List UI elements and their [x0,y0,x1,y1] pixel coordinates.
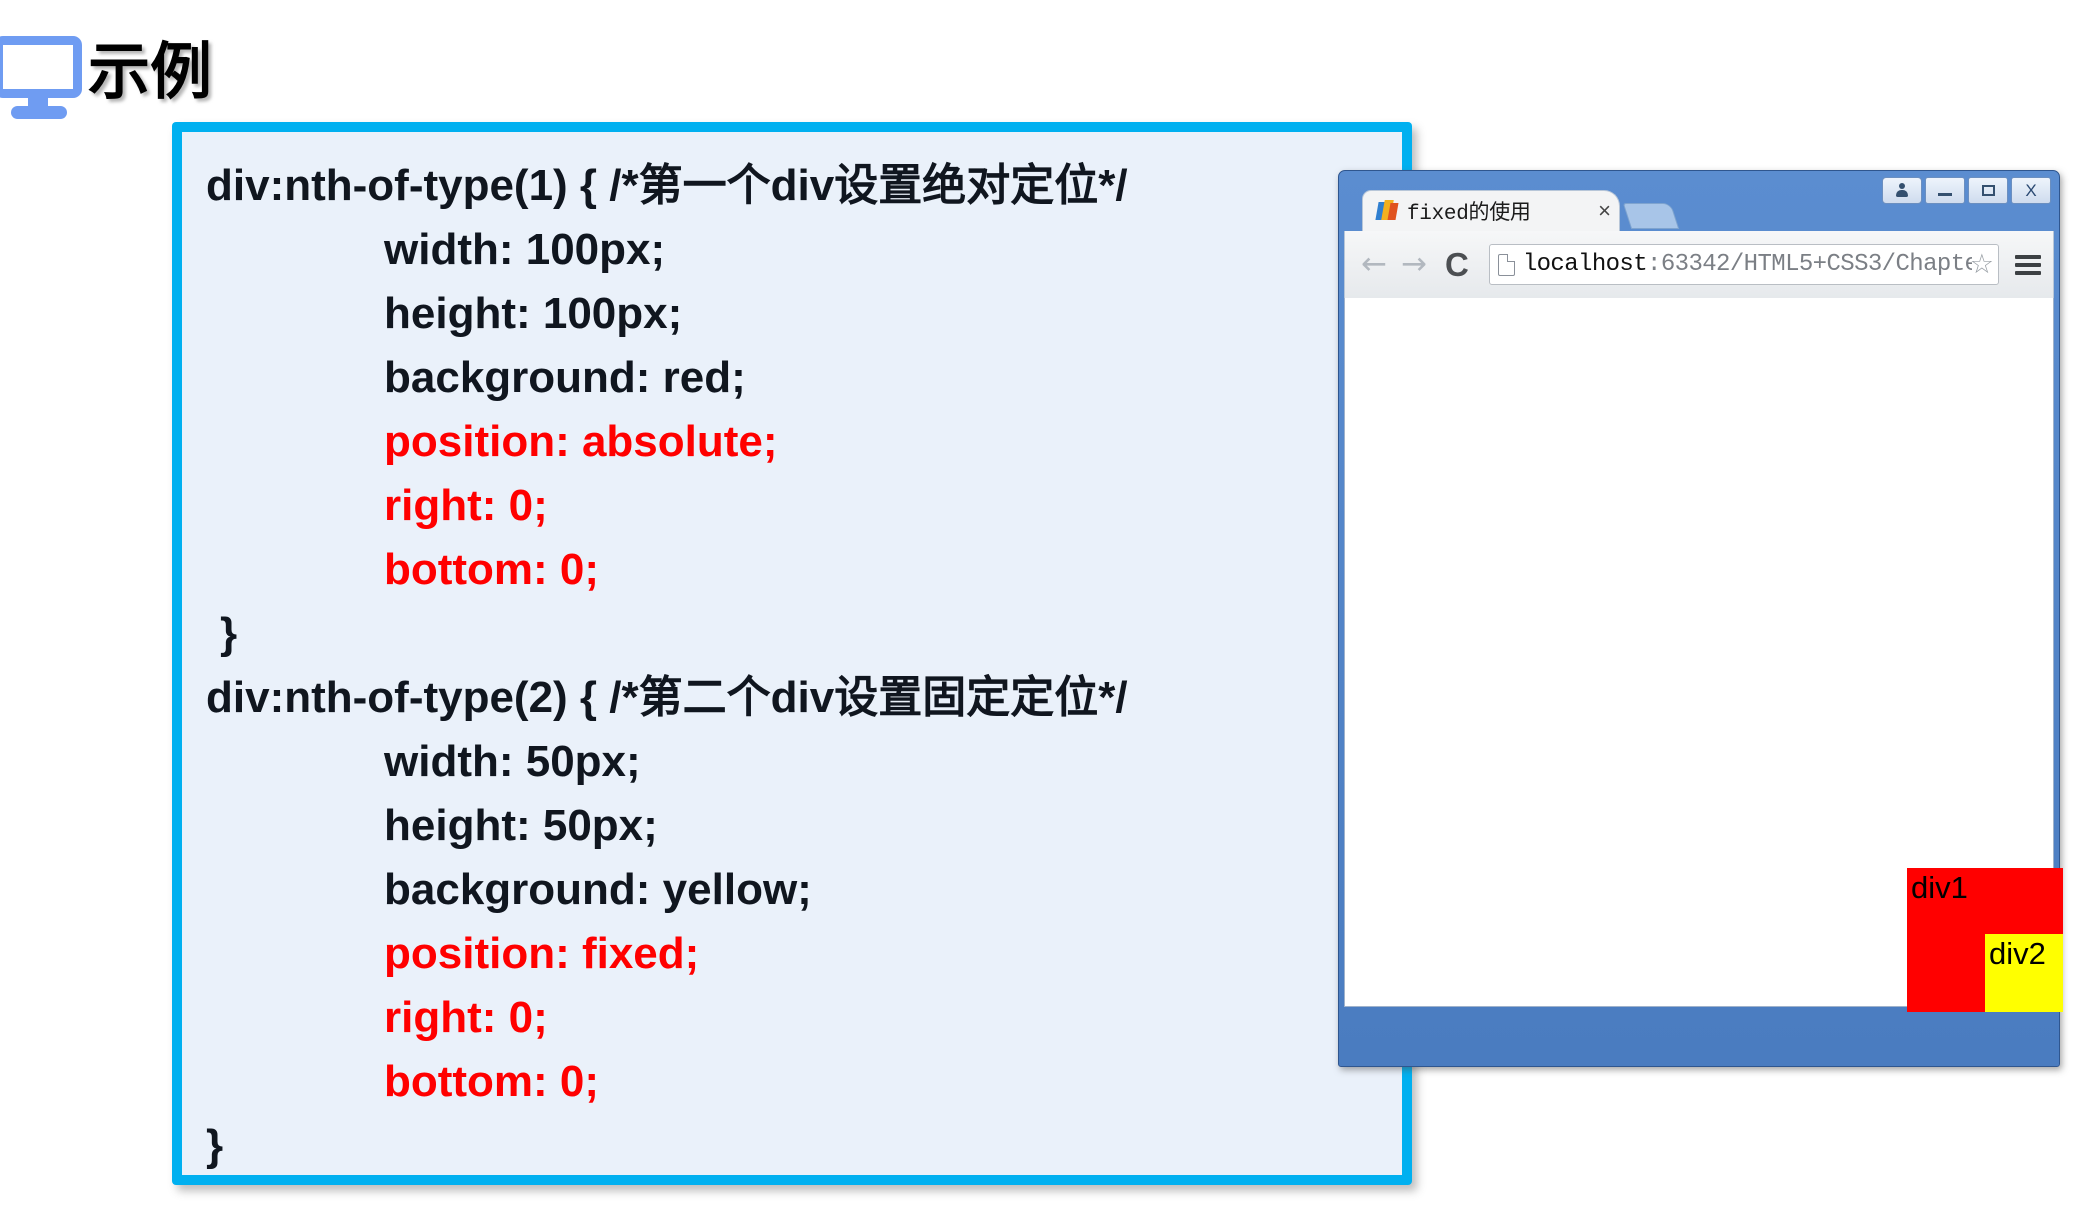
browser-tab[interactable]: fixed的使用 × [1362,190,1620,231]
page-title: 示例 [0,10,212,120]
maximize-button[interactable] [1968,177,2008,204]
user-profile-button[interactable] [1882,177,1922,204]
tab-title: fixed的使用 [1407,196,1594,226]
code-line: right: 0; [206,986,1402,1050]
code-line: width: 50px; [206,730,1402,794]
new-tab-button[interactable] [1623,203,1679,229]
monitor-icon [0,28,86,120]
back-icon[interactable]: ← [1359,249,1389,280]
code-line: bottom: 0; [206,1050,1402,1114]
user-icon [1895,183,1909,198]
minimize-icon [1938,193,1952,196]
browser-window: X fixed的使用 × ← → C localhost:63342/HTML5… [1338,170,2060,1067]
close-button[interactable]: X [2011,177,2051,204]
forward-icon[interactable]: → [1399,249,1429,280]
browser-toolbar: ← → C localhost:63342/HTML5+CSS3/Chapter… [1344,231,2054,298]
code-line: bottom: 0; [206,538,1402,602]
monitor-base [11,106,67,119]
heading-label: 示例 [88,42,212,104]
url-host: localhost [1523,251,1647,278]
slide-canvas: 示例 div:nth-of-type(1) { /*第一个div设置绝对定位*/… [0,0,2082,1227]
maximize-icon [1982,185,1995,196]
page-viewport: div1 div2 [1344,298,2054,1007]
hamburger-menu-icon[interactable] [2015,255,2041,275]
code-panel: div:nth-of-type(1) { /*第一个div设置绝对定位*/ wi… [172,122,1412,1185]
code-line: background: yellow; [206,858,1402,922]
div1-label: div1 [1907,868,2063,903]
reload-icon[interactable]: C [1441,248,1473,281]
code-line: } [206,602,1402,666]
div2-box: div2 [1985,934,2063,1012]
code-line: width: 100px; [206,218,1402,282]
bookmark-star-icon[interactable]: ☆ [1970,251,1994,278]
code-block: div:nth-of-type(1) { /*第一个div设置绝对定位*/ wi… [182,132,1402,1175]
tab-close-icon[interactable]: × [1598,200,1611,222]
favicon-icon [1377,200,1399,222]
code-line: background: red; [206,346,1402,410]
url-path: :63342/HTML5+CSS3/Chapter08/ [1647,251,1972,278]
window-controls: X [1882,177,2051,204]
minimize-button[interactable] [1925,177,1965,204]
code-line: position: absolute; [206,410,1402,474]
page-document-icon [1498,254,1515,276]
div2-label: div2 [1985,934,2063,969]
code-line: div:nth-of-type(1) { /*第一个div设置绝对定位*/ [206,154,1402,218]
code-line: div:nth-of-type(2) { /*第二个div设置固定定位*/ [206,666,1402,730]
code-line: } [206,1114,1402,1178]
code-line: height: 50px; [206,794,1402,858]
url-text: localhost:63342/HTML5+CSS3/Chapter08/ [1523,251,1972,278]
address-bar[interactable]: localhost:63342/HTML5+CSS3/Chapter08/ ☆ [1489,244,1999,285]
code-line: right: 0; [206,474,1402,538]
code-line: height: 100px; [206,282,1402,346]
code-line: position: fixed; [206,922,1402,986]
monitor-screen [0,36,82,98]
